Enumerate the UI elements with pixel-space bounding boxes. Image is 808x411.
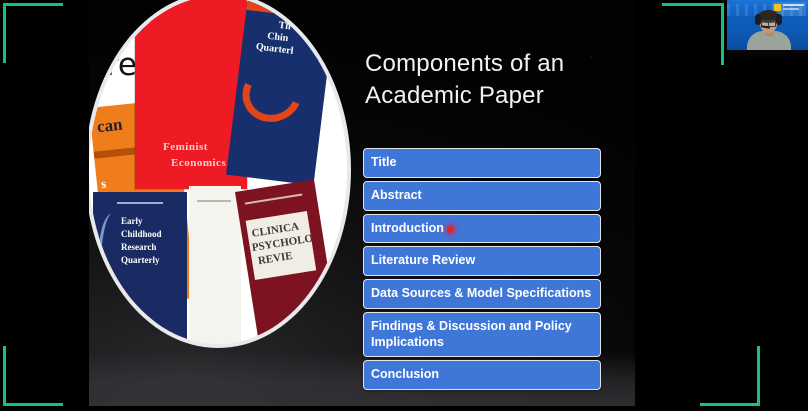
cover-text: Quarterl [255, 41, 294, 57]
cover-rule [117, 202, 163, 204]
screen-share-corner-top-right [662, 3, 724, 65]
cover-text: Economics [171, 157, 226, 170]
list-item-data-sources: Data Sources & Model Specifications [363, 279, 601, 309]
journal-cover-stack: can s w Feminist Economics Th Chin Quart… [89, 114, 347, 344]
cover-rule [197, 200, 231, 202]
logo-text-line-2 [783, 8, 799, 10]
headset-earcup-right-icon [776, 14, 782, 25]
cover-text: Early [121, 216, 143, 226]
cover-text: Childhood [121, 229, 162, 239]
screen-share-corner-bottom-left [3, 346, 63, 406]
bracket-line-vertical [3, 346, 6, 406]
webcam-bottom-bar [727, 50, 808, 57]
paper-components-list: Title Abstract Introduction Literature R… [363, 148, 601, 393]
journals-circular-photo: scholarly OR -reviewed artic can s w Fem… [89, 0, 351, 348]
cover-swoosh-graphic [234, 57, 310, 131]
list-item-title: Title [363, 148, 601, 178]
screen-share-corner-top-left [3, 3, 63, 63]
list-item-abstract: Abstract [363, 181, 601, 211]
webcam-thumbnail[interactable] [727, 0, 808, 57]
eyeglasses-icon [761, 20, 776, 25]
cover-rule [245, 194, 303, 205]
slide-title-line-1: Components of an [365, 48, 615, 80]
cover-text: Quarterly [121, 255, 160, 265]
photo-canvas: scholarly OR -reviewed artic can s w Fem… [89, 0, 347, 344]
bracket-line-horizontal [662, 3, 724, 6]
list-item-literature-review: Literature Review [363, 246, 601, 276]
bracket-line-vertical [721, 3, 724, 65]
screen-share-corner-bottom-right [700, 346, 760, 406]
cover-scribble-graphic [95, 213, 124, 277]
early-childhood-research-quarterly-cover: Early Childhood Research Quarterly [93, 192, 187, 342]
clinical-psychology-review-cover: CLINICA PSYCHOLO REVIE [235, 179, 337, 338]
presentation-slide: scholarly OR -reviewed artic can s w Fem… [89, 0, 635, 406]
list-item-introduction: Introduction [363, 214, 601, 244]
logo-mark-icon [774, 4, 781, 11]
bracket-line-vertical [3, 3, 6, 63]
cover-text: Research [121, 242, 156, 252]
bracket-line-horizontal [3, 3, 63, 6]
bracket-line-horizontal [700, 403, 760, 406]
bracket-line-horizontal [3, 403, 63, 406]
cover-top-band [246, 0, 336, 21]
slide-title-line-2: Academic Paper [365, 80, 615, 112]
list-item-conclusion: Conclusion [363, 360, 601, 390]
cover-text: can [96, 115, 123, 137]
cover-text: s [100, 177, 107, 192]
cover-text: Th [278, 20, 292, 33]
cover-text: Feminist [163, 141, 208, 154]
list-item-findings-discussion: Findings & Discussion and Policy Implica… [363, 312, 601, 358]
bracket-line-vertical [757, 346, 760, 406]
white-journal-cover [189, 186, 241, 346]
slide-title: Components of an Academic Paper [365, 48, 615, 112]
laser-pointer-cursor [447, 226, 454, 233]
logo-text-line-1 [783, 4, 804, 6]
